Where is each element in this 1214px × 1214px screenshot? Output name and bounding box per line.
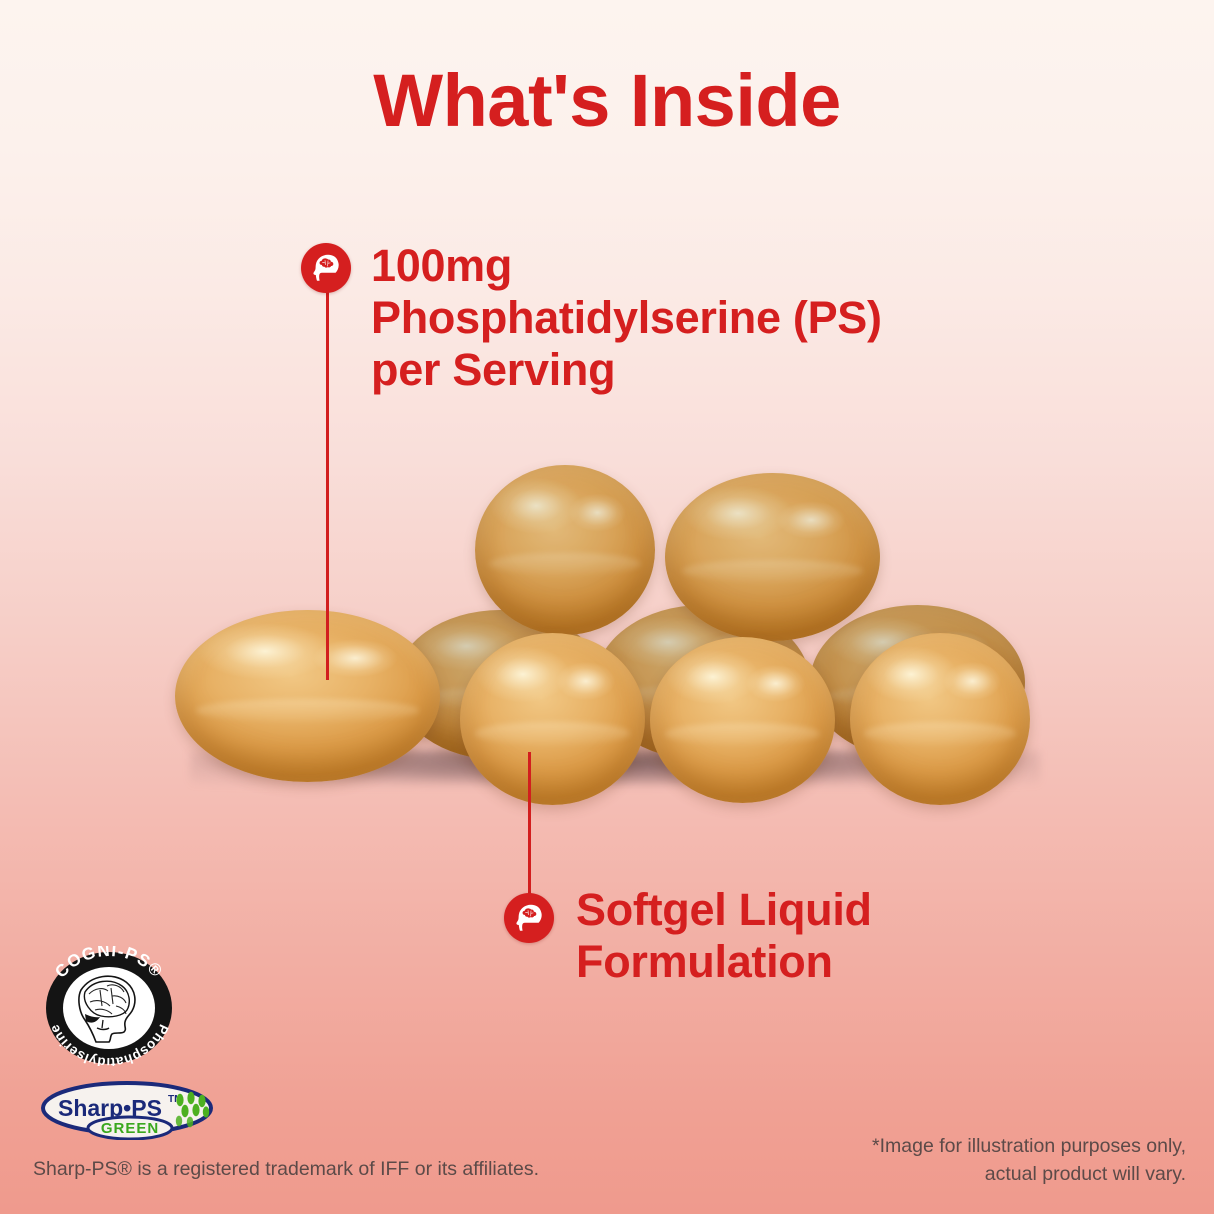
callout-2-line-1: Softgel Liquid bbox=[576, 884, 1136, 936]
callout-1-line-1: 100mg bbox=[371, 240, 1071, 292]
trademark-footnote: Sharp-PS® is a registered trademark of I… bbox=[33, 1158, 539, 1181]
callout-1-line-3: per Serving bbox=[371, 344, 1071, 396]
softgel-capsule-pile bbox=[165, 455, 1055, 815]
illustration-disclaimer: *Image for illustration purposes only, a… bbox=[872, 1133, 1186, 1188]
cogni-ps-logo: COGNI-PS® Phosphatidylserine bbox=[36, 946, 182, 1066]
callout-2-leader-line bbox=[528, 752, 531, 900]
callout-1-leader-line bbox=[326, 288, 329, 680]
callout-2-text: Softgel Liquid Formulation bbox=[576, 884, 1136, 988]
softgel-capsule bbox=[175, 610, 440, 782]
page-title: What's Inside bbox=[0, 58, 1214, 143]
softgel-capsule bbox=[475, 465, 655, 635]
callout-1-text: 100mg Phosphatidylserine (PS) per Servin… bbox=[371, 240, 1071, 397]
softgel-capsule bbox=[665, 473, 880, 641]
callout-1-line-2: Phosphatidylserine (PS) bbox=[371, 292, 1071, 344]
sharp-ps-green-badge-text: GREEN bbox=[101, 1120, 159, 1137]
head-brain-icon bbox=[512, 901, 546, 935]
softgel-capsule bbox=[650, 637, 835, 803]
disclaimer-line-2: actual product will vary. bbox=[872, 1161, 1186, 1189]
head-brain-icon bbox=[309, 251, 343, 285]
callout-2-line-2: Formulation bbox=[576, 936, 1136, 988]
disclaimer-line-1: *Image for illustration purposes only, bbox=[872, 1133, 1186, 1161]
callout-2-badge bbox=[504, 893, 554, 943]
sharp-ps-green-logo: Sharp•PS TM GREEN bbox=[40, 1080, 215, 1140]
callout-1-badge bbox=[301, 243, 351, 293]
infographic-canvas: What's Inside 100mg Phospha bbox=[0, 0, 1214, 1214]
softgel-capsule bbox=[460, 633, 645, 805]
softgel-capsule bbox=[850, 633, 1030, 805]
